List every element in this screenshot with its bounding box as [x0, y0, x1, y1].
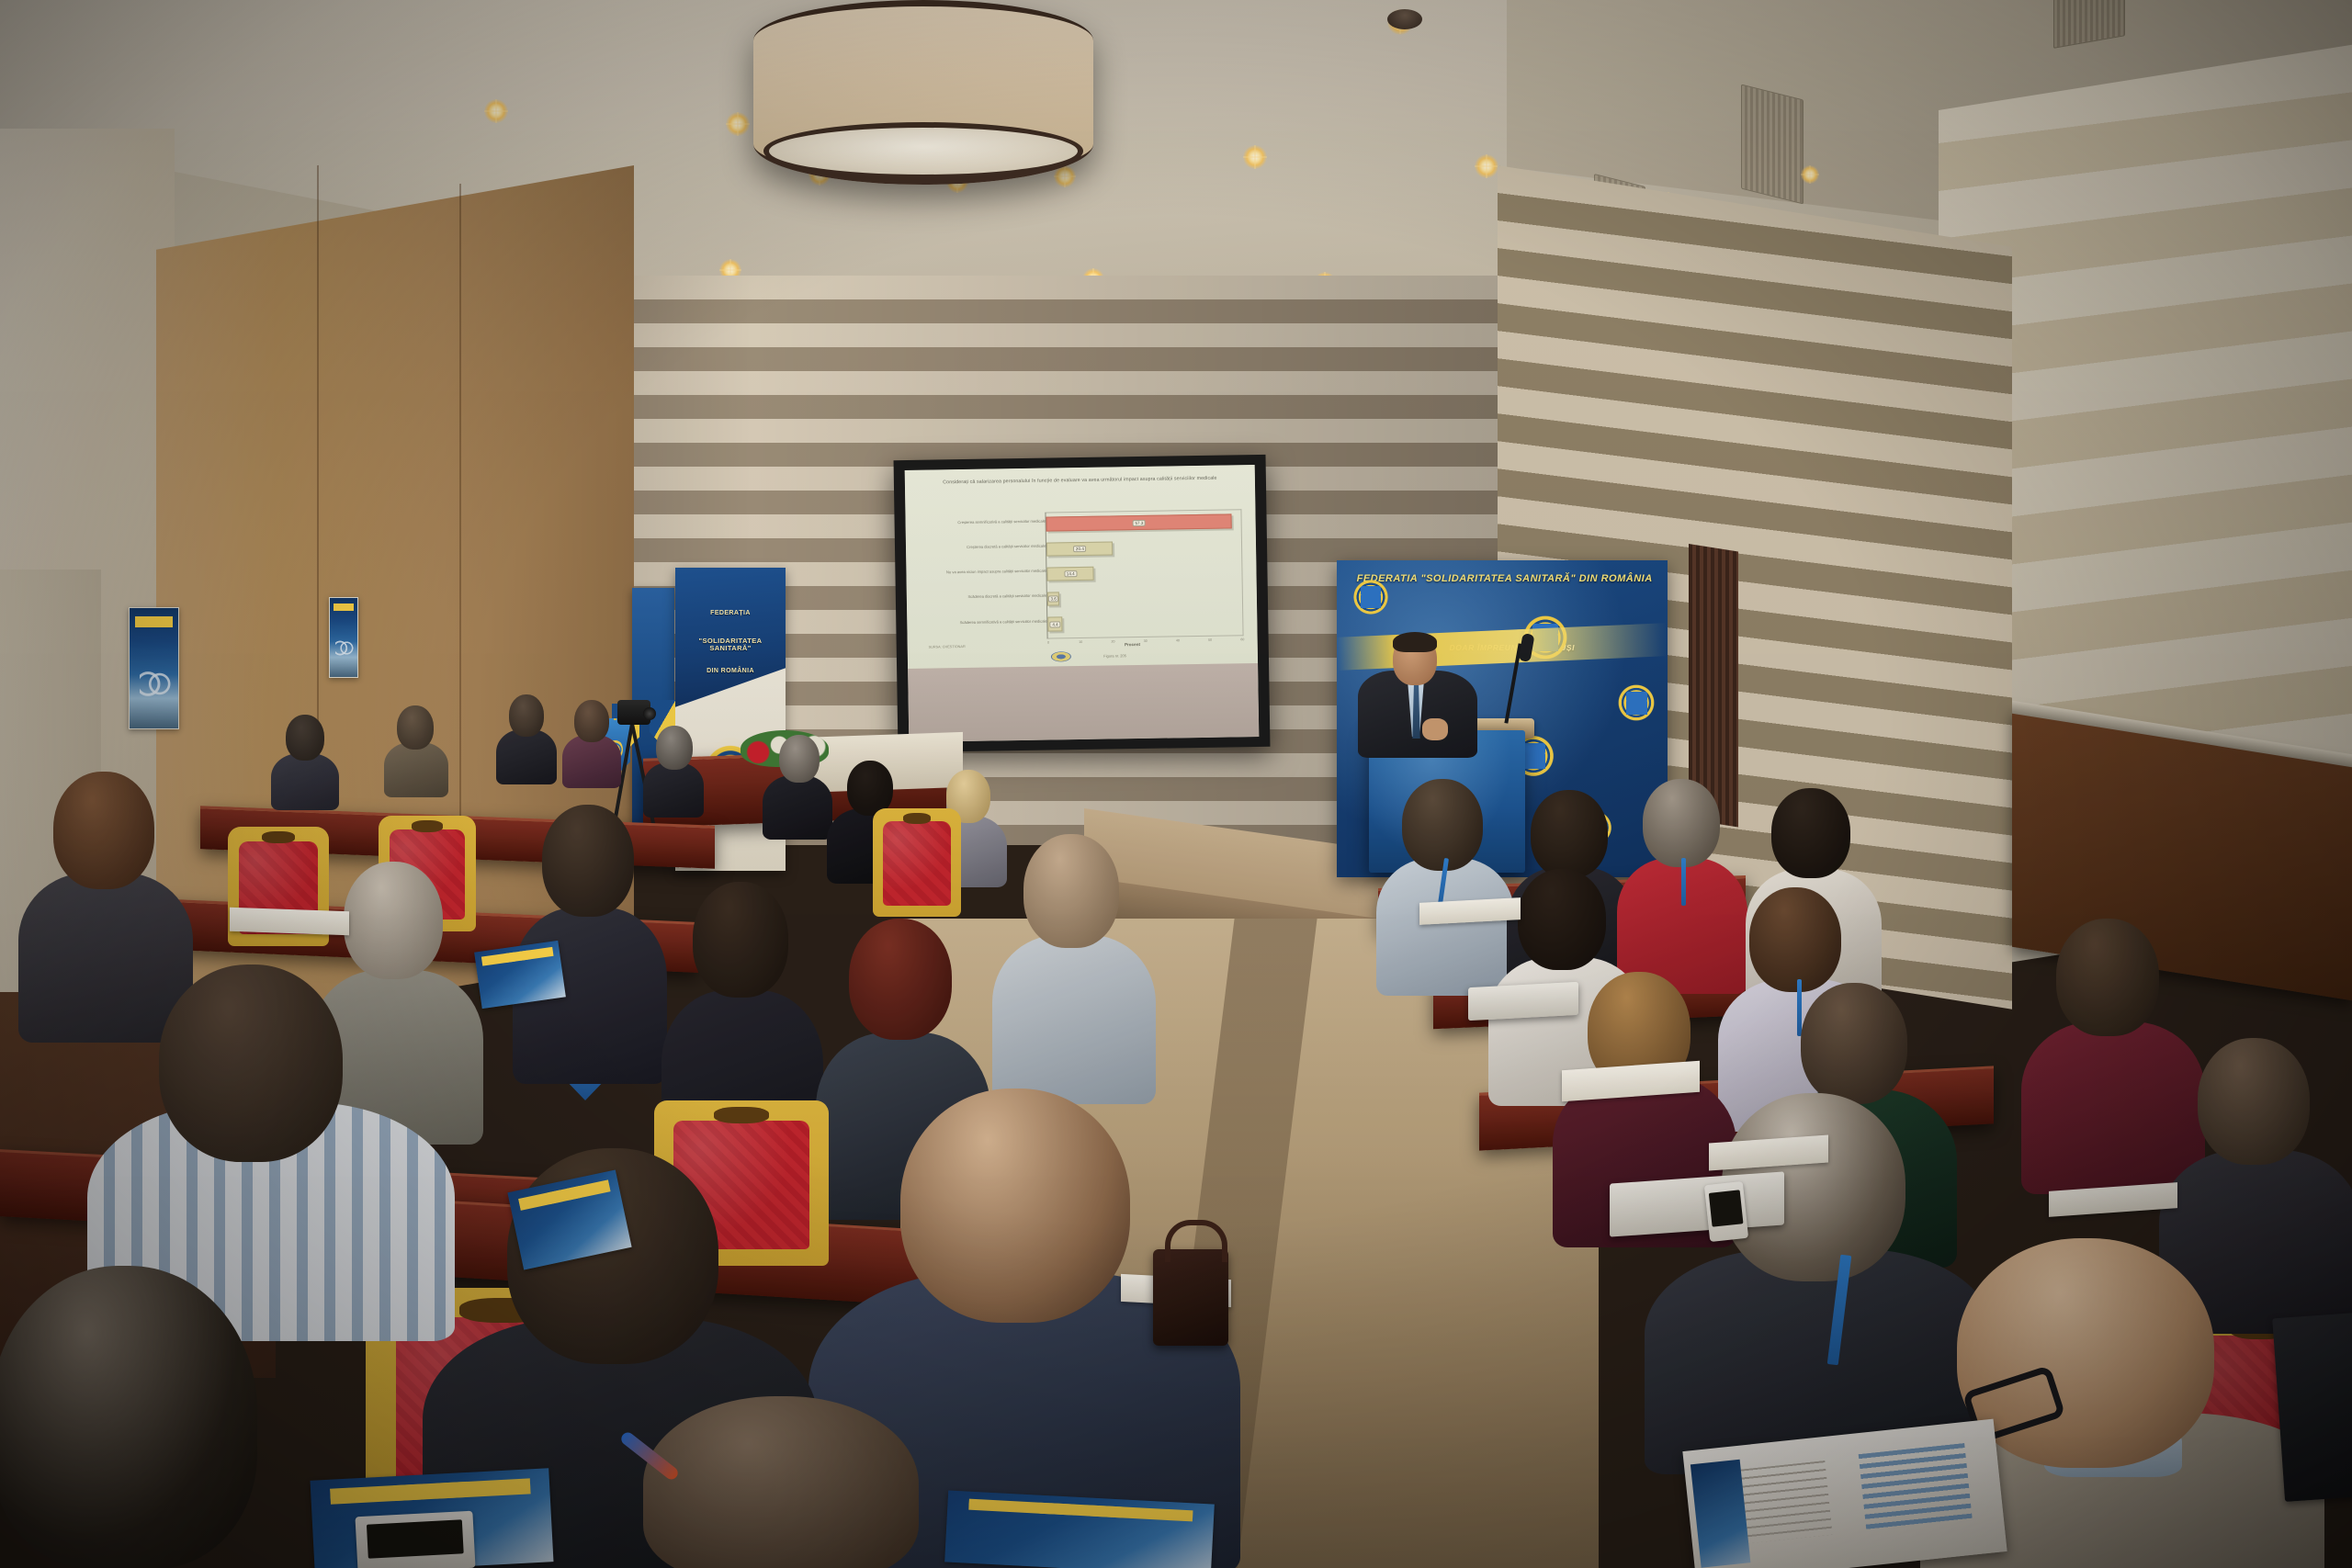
chair-handle-slot	[412, 820, 443, 832]
smartphone	[355, 1511, 475, 1568]
backdrop-org-text: FEDERATIA "SOLIDARITATEA SANITARĂ" DIN R…	[1357, 573, 1655, 584]
chair-cushion	[883, 821, 952, 906]
recessed-spotlight	[1475, 154, 1498, 178]
chart-xtick: 30	[1144, 639, 1148, 643]
speaker-hand	[1422, 718, 1448, 740]
chair-handle-slot	[262, 831, 294, 843]
screen-lower-area	[908, 663, 1259, 742]
chart-bar-value: 14.4	[1064, 570, 1077, 577]
chart-category-label: Creșterea semnificativă a calității serv…	[908, 518, 1046, 525]
attendee-torso	[562, 735, 621, 788]
attendee-torso	[271, 753, 339, 810]
chart-bar-row: 14.4	[1047, 564, 1242, 581]
conference-poster-right	[329, 597, 358, 678]
rollup-line3: DIN ROMÂNIA	[680, 668, 781, 674]
attendee	[562, 700, 621, 784]
speaker	[1358, 634, 1477, 749]
chart-source-label: SURSA: CHESTIONAR	[929, 645, 966, 649]
chart-category-label: Scăderea discretă a calității serviciilo…	[909, 593, 1046, 601]
chart-xtick: 10	[1079, 640, 1082, 644]
attendee-foreground-bottom	[643, 1396, 946, 1568]
chart-bar-row: 20.4	[1046, 539, 1241, 557]
booklet-chart	[1859, 1443, 1973, 1534]
attendee-head	[574, 700, 609, 742]
handbag-strap	[1165, 1220, 1227, 1262]
slide-logo	[1051, 651, 1071, 661]
poster-rings	[335, 639, 354, 657]
projection-screen: Considerați că salarizarea personalului …	[894, 455, 1271, 752]
chart-category-label: Scăderea semnificativă a calității servi…	[910, 618, 1047, 626]
attendee-head	[344, 862, 443, 979]
chart-bar-value: 4.4	[1050, 621, 1060, 627]
attendee-head	[643, 1396, 919, 1568]
camera-lens	[643, 707, 656, 720]
chart-category-label: Creșterea discretă a calității serviciil…	[908, 543, 1046, 550]
attendee-head	[53, 772, 154, 889]
chair-handle-slot	[903, 813, 932, 824]
chair-handle-slot	[714, 1107, 770, 1123]
conference-hall-photo: FEDERATIA "SOLIDARITATEA SANITARĂ" DIN R…	[0, 0, 2352, 1568]
smoke-detector	[1387, 9, 1422, 29]
attendee-head	[847, 761, 893, 816]
attendee	[513, 805, 667, 1080]
attendee-head	[0, 1266, 257, 1568]
banquet-chair	[873, 808, 961, 917]
paper-handout	[230, 908, 349, 936]
conference-brochure	[474, 941, 566, 1009]
recessed-spotlight	[726, 112, 750, 136]
chart-xtick: 0	[1047, 640, 1049, 644]
chart-bar: 57.3	[1046, 514, 1232, 531]
handbag	[1153, 1249, 1228, 1346]
smartphone	[1704, 1181, 1748, 1242]
federation-logo	[1614, 681, 1658, 725]
rollup-line1: FEDERAȚIA	[680, 610, 781, 616]
attendee-torso	[992, 935, 1156, 1104]
presentation-slide: Considerați că salarizarea personalului …	[905, 465, 1258, 669]
attendee-head	[2056, 919, 2159, 1036]
slide-chart: 57.3Creșterea semnificativă a calității …	[1046, 509, 1244, 639]
chart-xtick: 20	[1111, 639, 1114, 643]
rollup-line2: "SOLIDARITATEA SANITARĂ"	[680, 637, 781, 652]
chart-xtick: 60	[1240, 637, 1244, 641]
attendee	[992, 834, 1156, 1097]
chart-bar-row: 57.3	[1046, 514, 1241, 532]
recessed-spotlight	[484, 99, 508, 123]
air-vent	[1741, 85, 1804, 205]
slide-footer-note: Figura nr. 205	[1103, 653, 1126, 658]
recessed-spotlight	[1801, 165, 1819, 184]
chart-bar-row: 4.4	[1048, 615, 1243, 632]
attendee-head	[849, 919, 952, 1040]
chart-bar: 4.4	[1048, 617, 1063, 631]
attendee-head	[1749, 887, 1841, 992]
attendee-head	[1643, 779, 1720, 867]
attendee-head	[509, 694, 544, 737]
conference-brochure	[944, 1490, 1215, 1568]
attendee-head	[2198, 1038, 2310, 1165]
attendee-head	[656, 726, 693, 770]
wood-panel-seam	[459, 184, 461, 919]
attendee-head	[397, 705, 434, 750]
drum-pendant-light	[753, 0, 1093, 170]
recessed-spotlight	[1243, 145, 1267, 169]
attendee-torso	[384, 742, 448, 797]
chart-bar-value: 3.6	[1048, 596, 1058, 603]
attendee-head	[286, 715, 324, 761]
lanyard	[1681, 858, 1686, 906]
attendee	[643, 726, 704, 814]
attendee-head	[1801, 983, 1907, 1104]
attendee-head	[693, 882, 788, 998]
chart-xaxis-label: Procent	[1125, 642, 1140, 647]
chart-category-label: Nu va avea niciun impact asupra calități…	[909, 569, 1046, 576]
attendee-head	[900, 1089, 1130, 1323]
attendee-torso	[763, 775, 832, 840]
attendee-head	[1771, 788, 1850, 878]
poster-dots	[334, 604, 355, 611]
chart-bar-row: 3.6	[1047, 589, 1242, 606]
slide-title: Considerați că salarizarea personalului …	[926, 475, 1234, 487]
booklet-cover-image	[1690, 1459, 1751, 1567]
chart-xtick: 50	[1208, 638, 1212, 642]
chart-bar-value: 20.4	[1073, 546, 1086, 552]
conference-poster-left	[129, 607, 179, 729]
speaker-hair	[1393, 632, 1437, 652]
poster-dots	[135, 616, 172, 627]
attendee-head	[159, 964, 343, 1162]
attendee-torso	[496, 729, 557, 784]
chart-bar-value: 57.3	[1133, 519, 1146, 525]
attendee-head	[1518, 869, 1606, 970]
laptop	[2272, 1309, 2352, 1502]
chart-bar: 3.6	[1047, 592, 1059, 606]
federation-logo	[1350, 576, 1392, 618]
chart-bar: 14.4	[1047, 567, 1094, 581]
attendee	[271, 715, 339, 807]
attendee-head	[1531, 790, 1608, 878]
poster-rings	[140, 671, 172, 697]
attendee-head	[1402, 779, 1483, 871]
attendee-head	[542, 805, 634, 917]
chart-xtick: 40	[1176, 638, 1180, 642]
attendee-head	[779, 735, 820, 783]
attendee	[384, 705, 448, 794]
attendee	[496, 694, 557, 781]
screen-surface: Considerați că salarizarea personalului …	[905, 465, 1260, 742]
attendee-head	[1023, 834, 1119, 948]
laptop	[1468, 982, 1578, 1021]
attendee	[763, 735, 832, 836]
chart-bar: 20.4	[1046, 541, 1113, 556]
attendee-foreground-corner	[0, 1266, 312, 1568]
